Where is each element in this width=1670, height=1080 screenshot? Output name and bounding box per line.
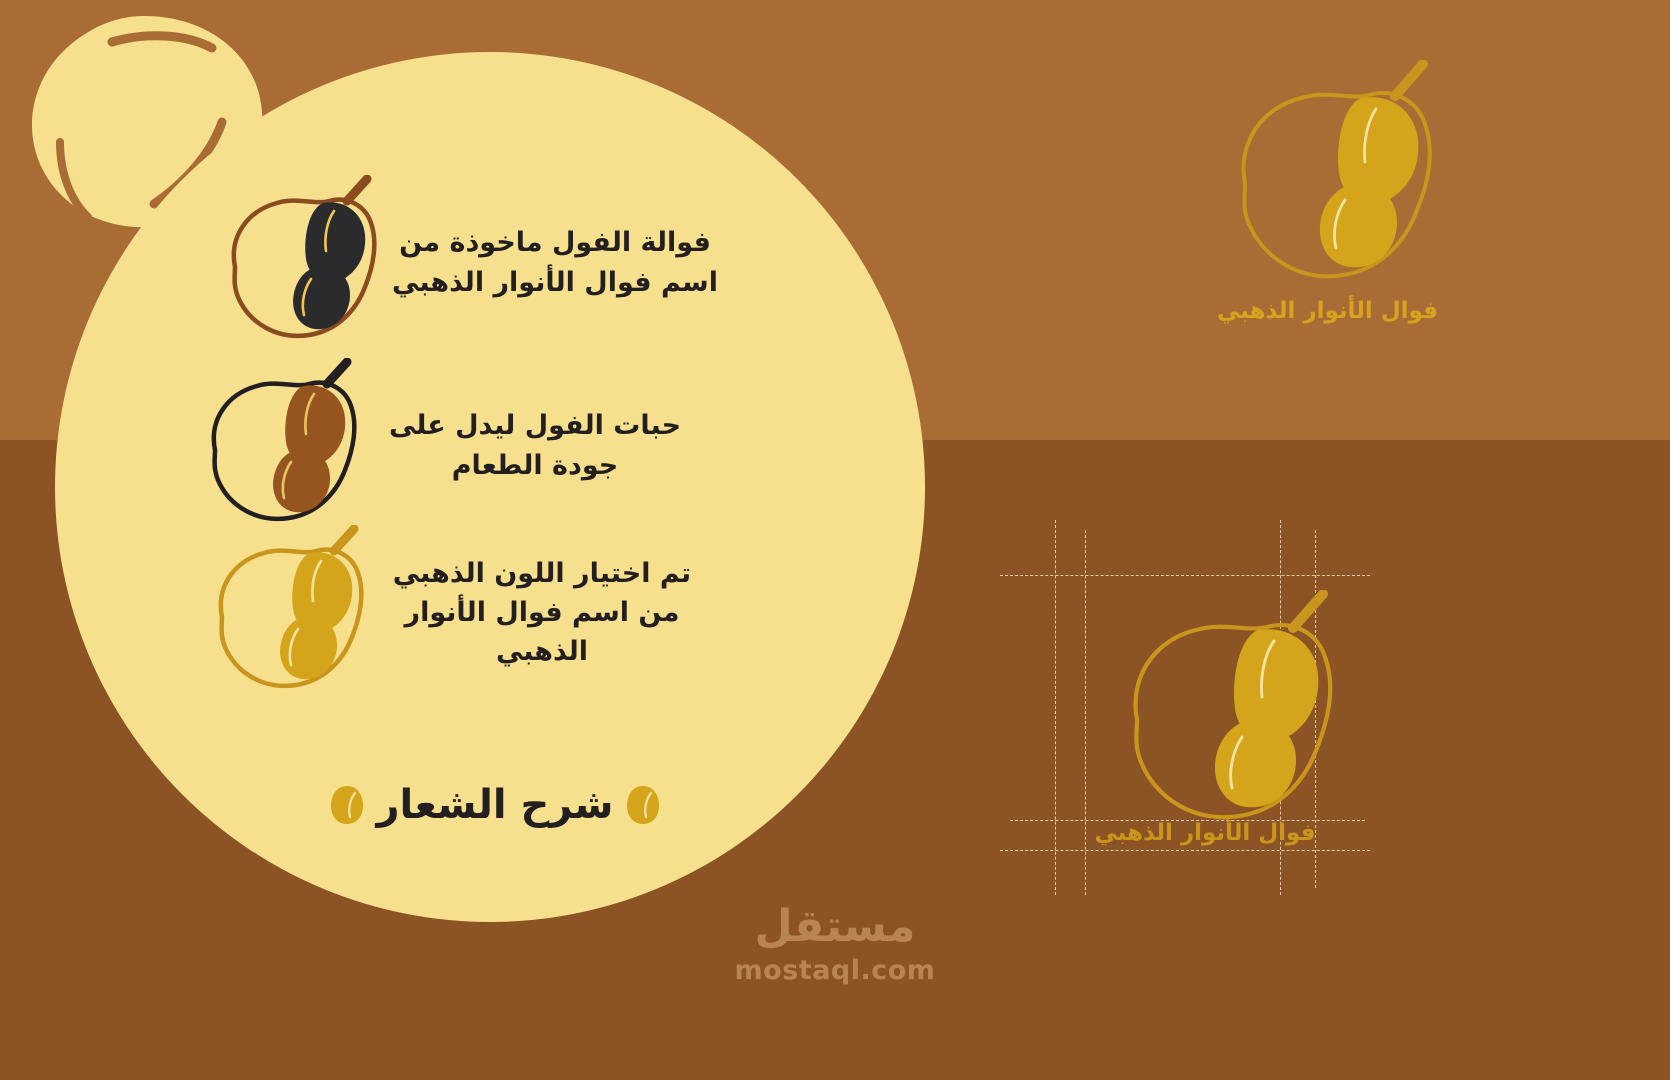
logo-mark-brown-icon (185, 358, 370, 533)
logo-mark-gold-icon (192, 525, 377, 700)
seed-right-icon (330, 785, 364, 825)
brand-lockup: فوال الأنوار الذهبي (1195, 60, 1465, 330)
explanation-text-1: فوالة الفول ماخوذة من اسم فوال الأنوار ا… (390, 223, 720, 301)
explanation-text-3: تم اختيار اللون الذهبي من اسم فوال الأنو… (377, 554, 707, 671)
circle-title-group: شرح الشعار (300, 770, 690, 840)
poster-canvas: فوالة الفول ماخوذة من اسم فوال الأنوار ا… (0, 0, 1670, 1080)
guide-horizontal-1 (1000, 575, 1370, 576)
explanation-row-1: فوالة الفول ماخوذة من اسم فوال الأنوار ا… (205, 175, 720, 350)
logo-mark-gold-construction-icon (1095, 590, 1350, 840)
circle-title: شرح الشعار (376, 782, 613, 828)
explanation-row-3: تم اختيار اللون الذهبي من اسم فوال الأنو… (192, 525, 707, 700)
construction-brand-name: فوال الأنوار الذهبي (1010, 820, 1400, 846)
brand-name: فوال الأنوار الذهبي (1195, 298, 1460, 324)
explanation-text-2: حبات الفول ليدل على جودة الطعام (370, 406, 700, 484)
logo-mark-gold-large-icon (1205, 60, 1450, 295)
seed-left-icon (626, 785, 660, 825)
logo-mark-black-icon (205, 175, 390, 350)
explanation-row-2: حبات الفول ليدل على جودة الطعام (185, 358, 700, 533)
guide-horizontal-3 (1000, 850, 1370, 851)
